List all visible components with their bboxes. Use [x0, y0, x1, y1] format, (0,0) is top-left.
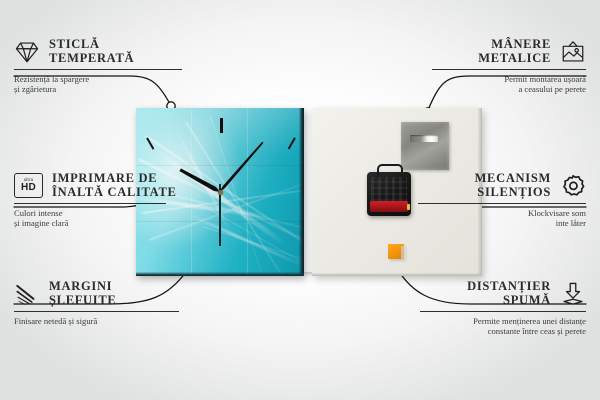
feature-title-line2: TEMPERATĂ — [49, 51, 134, 65]
infographic-canvas: STICLĂ TEMPERATĂ Rezistență la spargere … — [0, 0, 600, 400]
foam-spacer-pad — [388, 244, 404, 259]
arrow-down-pad-icon — [560, 281, 586, 307]
feature-divider — [14, 69, 182, 70]
ultra-hd-icon: ultra HD — [14, 173, 43, 198]
feature-subtitle-line1: Culori intense — [14, 208, 174, 218]
feature-subtitle-line2: constante între ceas și perete — [420, 326, 586, 336]
feature-subtitle-line2: inte låter — [418, 218, 586, 228]
gear-icon — [560, 173, 586, 199]
feature-divider — [432, 69, 586, 70]
metal-hanger-plate — [401, 122, 449, 170]
feature-metal-hangers: MÂNERE METALICE Permit montarea ușoară a… — [432, 38, 586, 95]
feature-foam-spacer: DISTANȚIER SPUMĂ Permite menținerea unei… — [420, 280, 586, 337]
feature-title-line1: MÂNERE — [491, 37, 551, 51]
feature-subtitle-line1: Klockvisare som — [418, 208, 586, 218]
diagonal-lines-icon — [14, 281, 40, 307]
feature-tempered-glass: STICLĂ TEMPERATĂ Rezistență la spargere … — [14, 38, 182, 95]
picture-frame-hanger-icon — [560, 39, 586, 65]
feature-divider — [418, 203, 586, 204]
movement-hanging-loop — [377, 164, 403, 177]
feature-divider — [420, 311, 586, 312]
feature-title-line1: STICLĂ — [49, 37, 100, 51]
feature-subtitle-line2: și zgârietura — [14, 84, 182, 94]
feature-title-line1: IMPRIMARE DE — [52, 171, 157, 185]
feature-subtitle-line2: și imagine clară — [14, 218, 174, 228]
feature-subtitle-line2: a ceasului pe perete — [432, 84, 586, 94]
feature-divider — [14, 203, 166, 204]
feature-title-line1: MECANISM — [475, 171, 551, 185]
feature-title-line1: DISTANȚIER — [467, 279, 551, 293]
movement-texture — [371, 177, 407, 201]
feature-subtitle-line1: Finisare netedă și sigură — [14, 316, 179, 326]
feature-title-line2: METALICE — [478, 51, 551, 65]
diamond-icon — [14, 39, 40, 65]
feature-silent-mechanism: MECANISM SILENȚIOS Klockvisare som inte … — [418, 172, 586, 229]
feature-title-line1: MARGINI — [49, 279, 112, 293]
clock-hour-hand — [179, 168, 221, 194]
clock-minute-hand — [219, 141, 265, 193]
hanger-slot — [410, 135, 438, 142]
feature-subtitle-line1: Rezistență la spargere — [14, 74, 182, 84]
feature-title-line2: ÎNALTĂ CALITATE — [52, 185, 177, 199]
feature-high-quality-print: ultra HD IMPRIMARE DE ÎNALTĂ CALITATE Cu… — [14, 172, 174, 229]
feature-title-line2: ȘLEFUITE — [49, 293, 116, 307]
clock-center-cap — [218, 190, 223, 195]
feature-title-line2: SPUMĂ — [503, 293, 551, 307]
quartz-movement — [367, 172, 411, 216]
feature-subtitle-line1: Permite menținerea unei distanțe — [420, 316, 586, 326]
feature-polished-edges: MARGINI ȘLEFUITE Finisare netedă și sigu… — [14, 280, 179, 326]
feature-title-line2: SILENȚIOS — [477, 185, 551, 199]
battery — [370, 201, 408, 212]
ultra-hd-large-label: HD — [21, 183, 36, 194]
feature-subtitle-line1: Permit montarea ușoară — [432, 74, 586, 84]
feature-divider — [14, 311, 179, 312]
